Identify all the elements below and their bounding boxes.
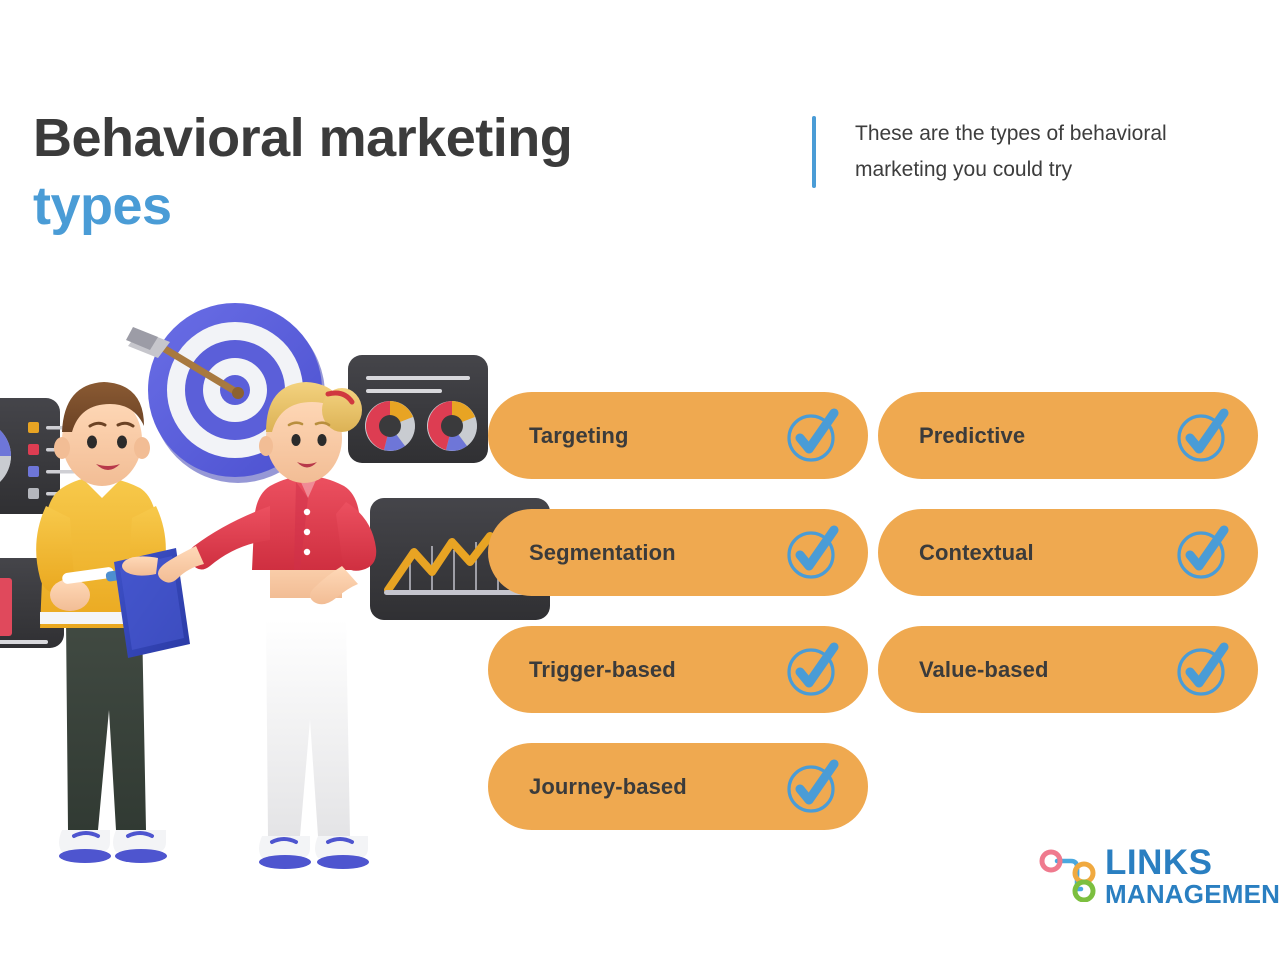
pill-column-left: Targeting Segmentation Trigger-based [488,392,868,860]
check-circle-icon [784,407,842,465]
subtitle-text: These are the types of behavioral market… [855,116,1185,188]
pill-contextual[interactable]: Contextual [878,509,1258,596]
links-management-logo[interactable]: LINKS MANAGEMENT [1037,845,1263,907]
check-circle-icon [784,758,842,816]
pill-label: Segmentation [529,540,784,566]
logo-line-management: MANAGEMENT [1105,881,1280,907]
subtitle-accent-bar [812,116,816,188]
pill-label: Targeting [529,423,784,449]
pill-value-based[interactable]: Value-based [878,626,1258,713]
pill-label: Value-based [919,657,1174,683]
pill-journey-based[interactable]: Journey-based [488,743,868,830]
subtitle-block: These are the types of behavioral market… [812,116,1185,188]
pill-label: Trigger-based [529,657,784,683]
donut-charts-panel [348,355,488,463]
male-presenter-figure [36,382,190,863]
female-shoes [259,836,369,869]
check-circle-icon [1174,641,1232,699]
page-title-line-2: types [33,172,733,240]
pill-targeting[interactable]: Targeting [488,392,868,479]
pill-label: Contextual [919,540,1174,566]
pill-column-right: Predictive Contextual Value-based [878,392,1258,743]
3d-marketing-team-illustration [0,290,550,900]
page-title-line-1: Behavioral marketing [33,104,733,172]
logo-wordmark: LINKS MANAGEMENT [1105,845,1280,907]
logo-line-links: LINKS [1105,845,1280,880]
check-circle-icon [1174,524,1232,582]
check-circle-icon [784,641,842,699]
check-circle-icon [784,524,842,582]
page-title: Behavioral marketing types [33,104,733,240]
male-shoes [59,830,167,863]
pill-segmentation[interactable]: Segmentation [488,509,868,596]
slide-canvas: Behavioral marketing types These are the… [0,0,1280,960]
pill-label: Predictive [919,423,1174,449]
links-nodes-icon [1037,846,1099,907]
pill-trigger-based[interactable]: Trigger-based [488,626,868,713]
pill-label: Journey-based [529,774,784,800]
pill-predictive[interactable]: Predictive [878,392,1258,479]
check-circle-icon [1174,407,1232,465]
